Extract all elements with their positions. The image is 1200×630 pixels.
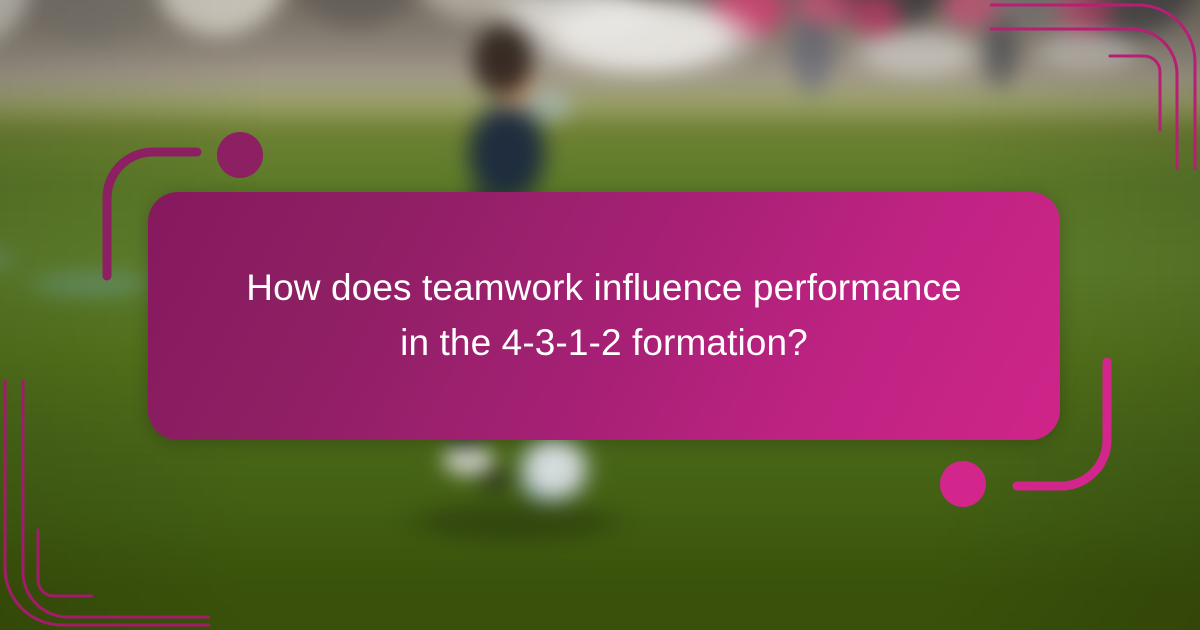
title-card: How does teamwork influence performance … [148, 192, 1060, 440]
share-card-canvas: How does teamwork influence performance … [0, 0, 1200, 630]
accent-dot-bottom-right [940, 461, 986, 507]
accent-dot-top-left [217, 132, 263, 178]
card-title: How does teamwork influence performance … [192, 261, 1015, 371]
